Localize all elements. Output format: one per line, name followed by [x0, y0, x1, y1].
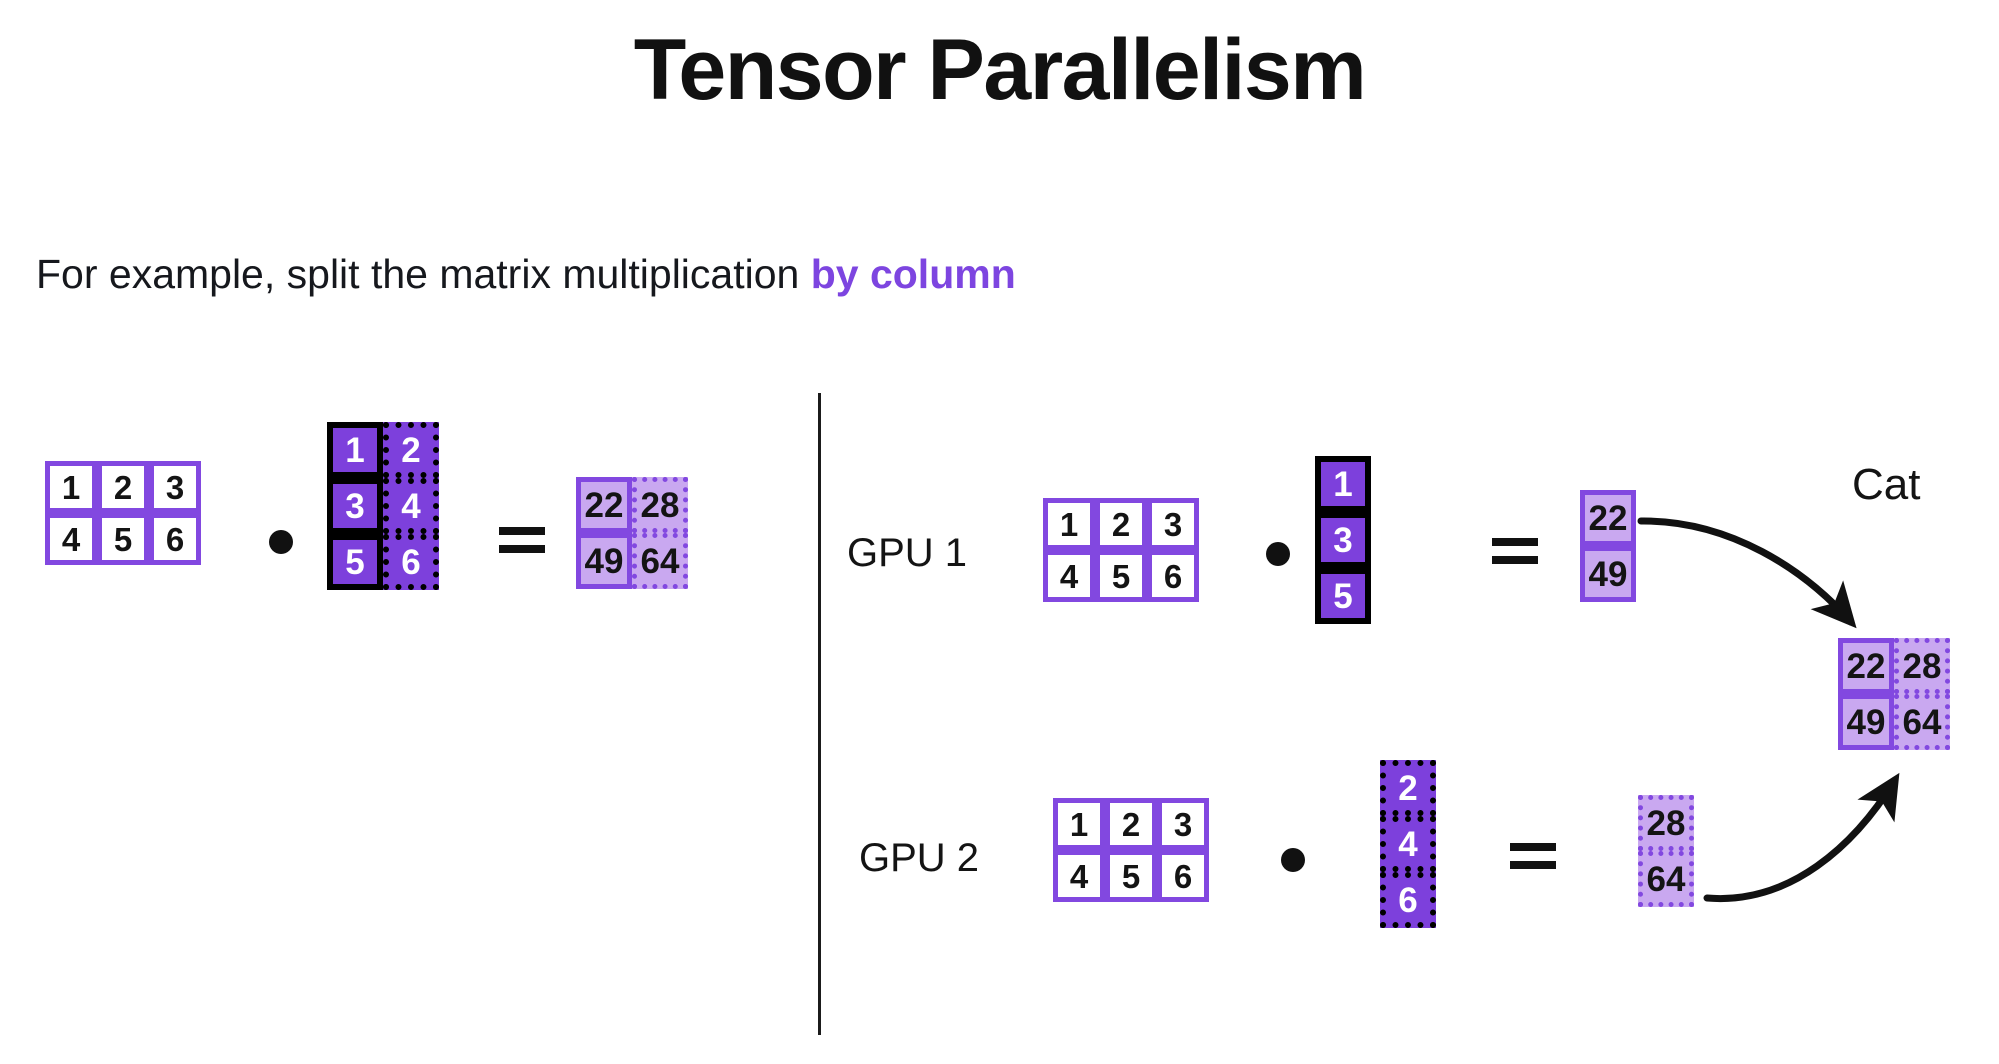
matrix-cell: 2	[1105, 798, 1157, 850]
gpu1-input-matrix: 1 2 3 4 5 6	[1043, 498, 1199, 602]
matrix-cell: 22	[1580, 490, 1636, 546]
matrix-cell: 2	[1095, 498, 1147, 550]
gpu2-label: GPU 2	[859, 836, 979, 881]
matrix-cell: 3	[1315, 512, 1371, 568]
dot-operator-icon	[1266, 542, 1290, 566]
matrix-cell: 49	[1580, 546, 1636, 602]
gpu1-weight-column: 1 3 5	[1315, 456, 1371, 624]
matrix-cell: 3	[327, 478, 383, 534]
matrix-cell: 1	[1315, 456, 1371, 512]
matrix-cell: 2	[97, 461, 149, 513]
matrix-cell: 64	[632, 533, 688, 589]
dot-operator-icon	[1281, 848, 1305, 872]
matrix-cell: 28	[1638, 795, 1694, 851]
arrow-gpu1-to-concat	[1641, 521, 1851, 622]
matrix-cell: 49	[576, 533, 632, 589]
matrix-cell: 6	[1157, 850, 1209, 902]
matrix-cell: 2	[383, 422, 439, 478]
matrix-cell: 4	[1053, 850, 1105, 902]
matrix-cell: 5	[1095, 550, 1147, 602]
matrix-cell: 4	[383, 478, 439, 534]
overview-result-matrix: 22 28 49 64	[576, 477, 688, 589]
matrix-cell: 5	[97, 513, 149, 565]
gpu1-label: GPU 1	[847, 531, 967, 576]
matrix-cell: 5	[1315, 568, 1371, 624]
matrix-cell: 2	[1380, 760, 1436, 816]
concat-arrows	[0, 0, 1999, 1064]
matrix-cell: 3	[1147, 498, 1199, 550]
equals-operator-icon	[1492, 538, 1538, 564]
matrix-cell: 1	[1053, 798, 1105, 850]
slide-canvas: Tensor Parallelism For example, split th…	[0, 0, 1999, 1064]
matrix-cell: 28	[1894, 638, 1950, 694]
matrix-cell: 1	[1043, 498, 1095, 550]
equals-operator-icon	[499, 527, 545, 553]
matrix-cell: 6	[1147, 550, 1199, 602]
arrow-gpu2-to-concat	[1707, 780, 1895, 899]
matrix-cell: 5	[1105, 850, 1157, 902]
subtitle-prefix-text: For example, split the matrix multiplica…	[36, 251, 811, 297]
matrix-cell: 4	[1380, 816, 1436, 872]
matrix-cell: 22	[576, 477, 632, 533]
matrix-cell: 1	[327, 422, 383, 478]
matrix-cell: 49	[1838, 694, 1894, 750]
gpu1-result-column: 22 49	[1580, 490, 1636, 602]
matrix-cell: 4	[1043, 550, 1095, 602]
page-subtitle: For example, split the matrix multiplica…	[36, 251, 1016, 298]
matrix-cell: 5	[327, 534, 383, 590]
section-divider	[818, 393, 821, 1035]
gpu2-result-column: 28 64	[1638, 795, 1694, 907]
matrix-cell: 4	[45, 513, 97, 565]
matrix-cell: 6	[383, 534, 439, 590]
matrix-cell: 6	[1380, 872, 1436, 928]
gpu2-input-matrix: 1 2 3 4 5 6	[1053, 798, 1209, 902]
matrix-cell: 3	[149, 461, 201, 513]
equals-operator-icon	[1510, 843, 1556, 869]
matrix-cell: 6	[149, 513, 201, 565]
page-title: Tensor Parallelism	[0, 25, 1999, 115]
subtitle-accent-text: by column	[811, 251, 1016, 297]
matrix-cell: 64	[1638, 851, 1694, 907]
concat-label: Cat	[1852, 460, 1920, 510]
matrix-cell: 28	[632, 477, 688, 533]
overview-input-matrix: 1 2 3 4 5 6	[45, 461, 201, 565]
concat-result-matrix: 22 28 49 64	[1838, 638, 1950, 750]
matrix-cell: 64	[1894, 694, 1950, 750]
matrix-cell: 1	[45, 461, 97, 513]
matrix-cell: 22	[1838, 638, 1894, 694]
overview-weight-matrix: 1 2 3 4 5 6	[327, 422, 439, 590]
gpu2-weight-column: 2 4 6	[1380, 760, 1436, 928]
dot-operator-icon	[269, 530, 293, 554]
matrix-cell: 3	[1157, 798, 1209, 850]
